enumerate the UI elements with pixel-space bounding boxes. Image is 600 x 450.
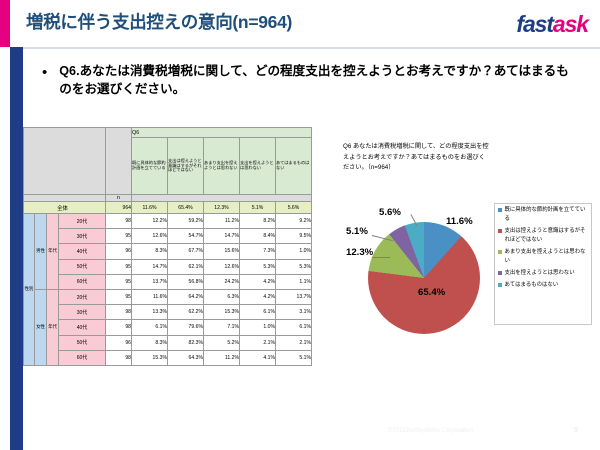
legend-swatch-icon-5: [498, 283, 502, 287]
row-value-1: 12.2%: [132, 214, 168, 229]
row-value-1: 8.3%: [132, 244, 168, 259]
row-value-3: 15.6%: [204, 244, 240, 259]
header-option-1: 既に具体的な節約計画を立てている: [132, 138, 168, 195]
pie-label-5: 5.6%: [379, 207, 401, 218]
row-value-1: 8.3%: [132, 335, 168, 350]
row-n: 96: [106, 335, 132, 350]
row-group-age-female: 年代: [47, 289, 59, 365]
row-value-1: 13.7%: [132, 274, 168, 289]
crosstab-table: Q6 既に具体的な節約計画を立てている 支出は控えようと意識はするがそれほどでは…: [23, 127, 312, 366]
row-group-male: 男性: [35, 214, 47, 290]
total-value-2: 65.4%: [168, 202, 204, 214]
row-group-female: 女性: [35, 289, 47, 365]
table-row: 女性 年代 20代 95 11.6% 64.2% 6.3% 4.2% 13.7%: [24, 289, 312, 304]
leader-line-3: [372, 257, 390, 258]
row-label-age: 20代: [59, 289, 106, 304]
row-n: 98: [106, 320, 132, 335]
crosstab-body: 全体 964 11.6% 65.4% 12.3% 5.1% 5.6% 性別 男性…: [24, 202, 312, 366]
row-value-4: 8.4%: [240, 229, 276, 244]
row-label-age: 50代: [59, 259, 106, 274]
accent-bar-navy: [10, 47, 23, 450]
table-row: 60代 98 15.3% 64.3% 11.2% 4.1% 5.1%: [24, 350, 312, 365]
legend-swatch-icon-1: [498, 208, 502, 212]
legend-label-4: 支出を控えようとは思わない: [505, 269, 575, 278]
table-row: 60代 95 13.7% 56.8% 24.2% 4.2% 1.1%: [24, 274, 312, 289]
header-n-spacer: [132, 195, 312, 202]
header-n-blank: [24, 195, 106, 202]
row-value-4: 1.0%: [240, 320, 276, 335]
row-value-2: 62.2%: [168, 305, 204, 320]
table-row: 50代 95 14.7% 62.1% 12.6% 5.3% 5.3%: [24, 259, 312, 274]
row-value-1: 12.6%: [132, 229, 168, 244]
total-value-1: 11.6%: [132, 202, 168, 214]
row-label-age: 60代: [59, 274, 106, 289]
row-group-sex: 性別: [24, 214, 35, 366]
legend-item-3: あまり支出を控えようとは思わない: [498, 248, 589, 266]
row-n: 95: [106, 274, 132, 289]
logo-text-fast: fast: [516, 11, 553, 37]
table-row: 40代 98 6.1% 79.6% 7.1% 1.0% 6.1%: [24, 320, 312, 335]
pie-label-4: 5.1%: [346, 226, 368, 237]
row-label-age: 30代: [59, 305, 106, 320]
pie-label-2: 65.4%: [418, 287, 445, 298]
total-value-3: 12.3%: [204, 202, 240, 214]
row-value-5: 13.7%: [276, 289, 312, 304]
table-row-total: 全体 964 11.6% 65.4% 12.3% 5.1% 5.6%: [24, 202, 312, 214]
row-value-4: 5.3%: [240, 259, 276, 274]
row-value-2: 64.2%: [168, 289, 204, 304]
row-n: 98: [106, 305, 132, 320]
header-corner-blank: [24, 128, 106, 195]
legend-label-5: あてはまるものはない: [505, 281, 559, 290]
legend-item-1: 既に具体的な節約計画を立てている: [498, 206, 589, 224]
total-label: 全体: [24, 202, 106, 214]
pie-label-1: 11.6%: [446, 216, 473, 227]
row-value-3: 24.2%: [204, 274, 240, 289]
chart-legend: 既に具体的な節約計画を立てている 支出は控えようと意識はするがそれほどではない …: [494, 203, 592, 325]
legend-item-4: 支出を控えようとは思わない: [498, 269, 589, 278]
row-value-2: 79.6%: [168, 320, 204, 335]
row-value-5: 3.1%: [276, 305, 312, 320]
table-row: 30代 98 13.3% 62.2% 15.3% 6.1% 3.1%: [24, 305, 312, 320]
row-value-3: 11.2%: [204, 350, 240, 365]
row-value-4: 7.3%: [240, 244, 276, 259]
row-value-5: 1.1%: [276, 274, 312, 289]
row-value-5: 9.2%: [276, 214, 312, 229]
row-value-3: 14.7%: [204, 229, 240, 244]
chart-title: Q6 あなたは消費税増税に関して、どの程度支出を控えようとお考えですか？あてはま…: [343, 142, 491, 174]
row-n: 95: [106, 229, 132, 244]
total-value-5: 5.6%: [276, 202, 312, 214]
row-value-5: 5.1%: [276, 350, 312, 365]
row-label-age: 60代: [59, 350, 106, 365]
row-group-age-male: 年代: [47, 214, 59, 290]
row-value-4: 4.2%: [240, 274, 276, 289]
row-value-1: 15.3%: [132, 350, 168, 365]
table-header-n-row: n: [24, 195, 312, 202]
row-value-3: 11.2%: [204, 214, 240, 229]
header-option-3: あまり支出を控えようとは思わない: [204, 138, 240, 195]
total-n: 964: [106, 202, 132, 214]
row-value-4: 4.1%: [240, 350, 276, 365]
row-value-4: 8.2%: [240, 214, 276, 229]
row-value-5: 6.1%: [276, 320, 312, 335]
row-label-age: 50代: [59, 335, 106, 350]
header-question-group: Q6: [132, 128, 312, 138]
row-value-1: 11.6%: [132, 289, 168, 304]
header-corner-n-blank: [106, 128, 132, 195]
legend-swatch-icon-3: [498, 250, 502, 254]
row-n: 95: [106, 289, 132, 304]
row-value-4: 6.1%: [240, 305, 276, 320]
row-value-5: 1.0%: [276, 244, 312, 259]
table-row: 性別 男性 年代 20代 98 12.2% 59.2% 11.2% 8.2% 9…: [24, 214, 312, 229]
table-row: 50代 96 8.3% 82.3% 5.2% 2.1% 2.1%: [24, 335, 312, 350]
header-n-label: n: [106, 195, 132, 202]
pie-label-3: 12.3%: [346, 247, 373, 258]
header-option-4: 支出を控えようとは思わない: [240, 138, 276, 195]
table-header-group-row: Q6: [24, 128, 312, 138]
row-value-3: 6.3%: [204, 289, 240, 304]
copyright-text: ©2013JustSystems Corporation: [388, 428, 473, 434]
row-value-2: 82.3%: [168, 335, 204, 350]
page-title: 増税に伴う支出控えの意向(n=964): [26, 9, 292, 34]
row-value-1: 6.1%: [132, 320, 168, 335]
legend-label-2: 支出は控えようと意識はするがそれほどではない: [505, 227, 590, 245]
row-n: 96: [106, 244, 132, 259]
row-value-2: 54.7%: [168, 229, 204, 244]
row-value-1: 14.7%: [132, 259, 168, 274]
row-value-1: 13.3%: [132, 305, 168, 320]
row-label-age: 20代: [59, 214, 106, 229]
row-label-age: 30代: [59, 229, 106, 244]
row-value-2: 67.7%: [168, 244, 204, 259]
legend-item-5: あてはまるものはない: [498, 281, 589, 290]
row-value-3: 5.2%: [204, 335, 240, 350]
logo-text-ask: ask: [553, 11, 588, 37]
legend-item-2: 支出は控えようと意識はするがそれほどではない: [498, 227, 589, 245]
row-label-age: 40代: [59, 244, 106, 259]
row-value-3: 7.1%: [204, 320, 240, 335]
row-value-5: 9.5%: [276, 229, 312, 244]
row-n: 98: [106, 350, 132, 365]
row-label-age: 40代: [59, 320, 106, 335]
legend-swatch-icon-2: [498, 229, 502, 233]
title-divider: [23, 47, 600, 49]
row-n: 98: [106, 214, 132, 229]
row-value-2: 59.2%: [168, 214, 204, 229]
row-value-3: 12.6%: [204, 259, 240, 274]
row-value-4: 2.1%: [240, 335, 276, 350]
row-value-2: 56.8%: [168, 274, 204, 289]
table-row: 30代 95 12.6% 54.7% 14.7% 8.4% 9.5%: [24, 229, 312, 244]
question-bullet-block: • Q6.あなたは消費税増税に関して、どの程度支出を控えようとお考えですか？あて…: [42, 62, 572, 99]
legend-swatch-icon-4: [498, 271, 502, 275]
row-value-3: 15.3%: [204, 305, 240, 320]
bullet-icon: •: [42, 62, 47, 99]
total-value-4: 5.1%: [240, 202, 276, 214]
row-n: 95: [106, 259, 132, 274]
row-value-2: 64.3%: [168, 350, 204, 365]
row-value-5: 5.3%: [276, 259, 312, 274]
row-value-2: 62.1%: [168, 259, 204, 274]
page-number: 9: [574, 427, 578, 434]
accent-bar-magenta: [0, 0, 10, 47]
table-row: 40代 96 8.3% 67.7% 15.6% 7.3% 1.0%: [24, 244, 312, 259]
question-text: Q6.あなたは消費税増税に関して、どの程度支出を控えようとお考えですか？あてはま…: [59, 62, 572, 99]
legend-label-3: あまり支出を控えようとは思わない: [505, 248, 590, 266]
row-value-4: 4.2%: [240, 289, 276, 304]
fastask-logo: fastask: [516, 13, 588, 36]
legend-label-1: 既に具体的な節約計画を立てている: [505, 206, 590, 224]
header-option-5: あてはまるものはない: [276, 138, 312, 195]
header-option-2: 支出は控えようと意識はするがそれほどではない: [168, 138, 204, 195]
row-value-5: 2.1%: [276, 335, 312, 350]
